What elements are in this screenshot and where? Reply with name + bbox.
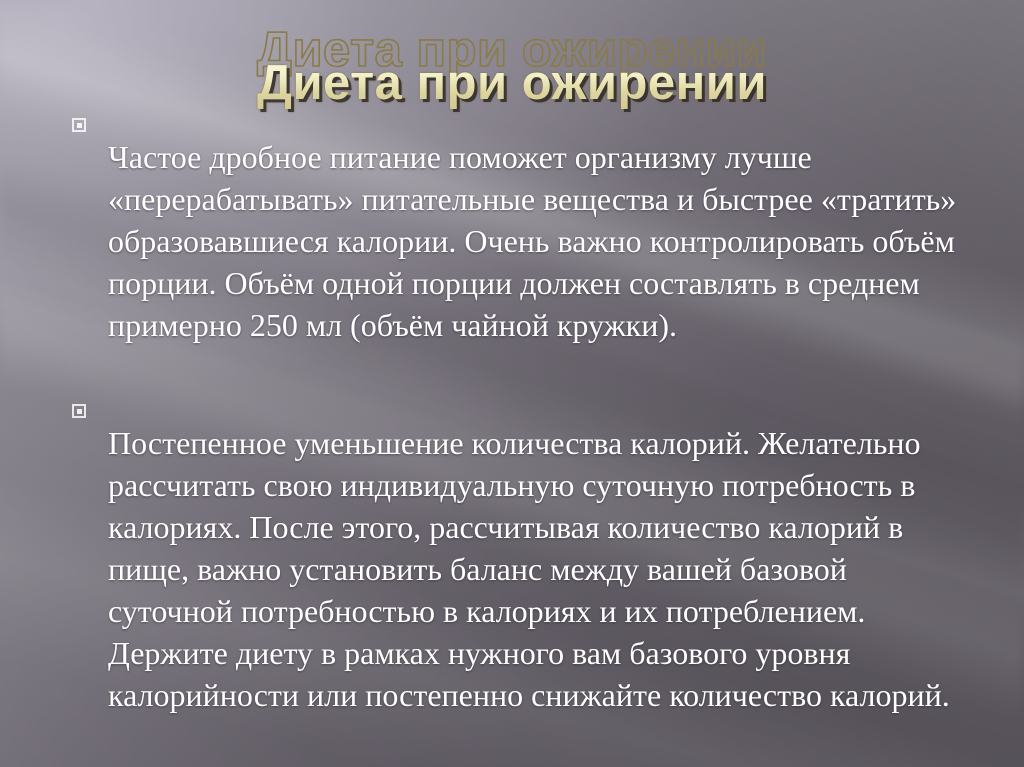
square-bullet-icon xyxy=(72,404,86,418)
square-bullet-icon xyxy=(72,118,86,132)
slide-body: Частое дробное питание поможет организму… xyxy=(72,104,972,748)
presentation-slide: Диета при ожирении Диета при ожирении Ча… xyxy=(0,0,1024,767)
bullet-item-text: Частое дробное питание поможет организму… xyxy=(108,136,972,346)
bullet-item-text: Постепенное уменьшение количества калори… xyxy=(108,422,972,716)
bullet-item: Постепенное уменьшение количества калори… xyxy=(72,390,972,748)
bullet-item: Частое дробное питание поможет организму… xyxy=(72,104,972,378)
